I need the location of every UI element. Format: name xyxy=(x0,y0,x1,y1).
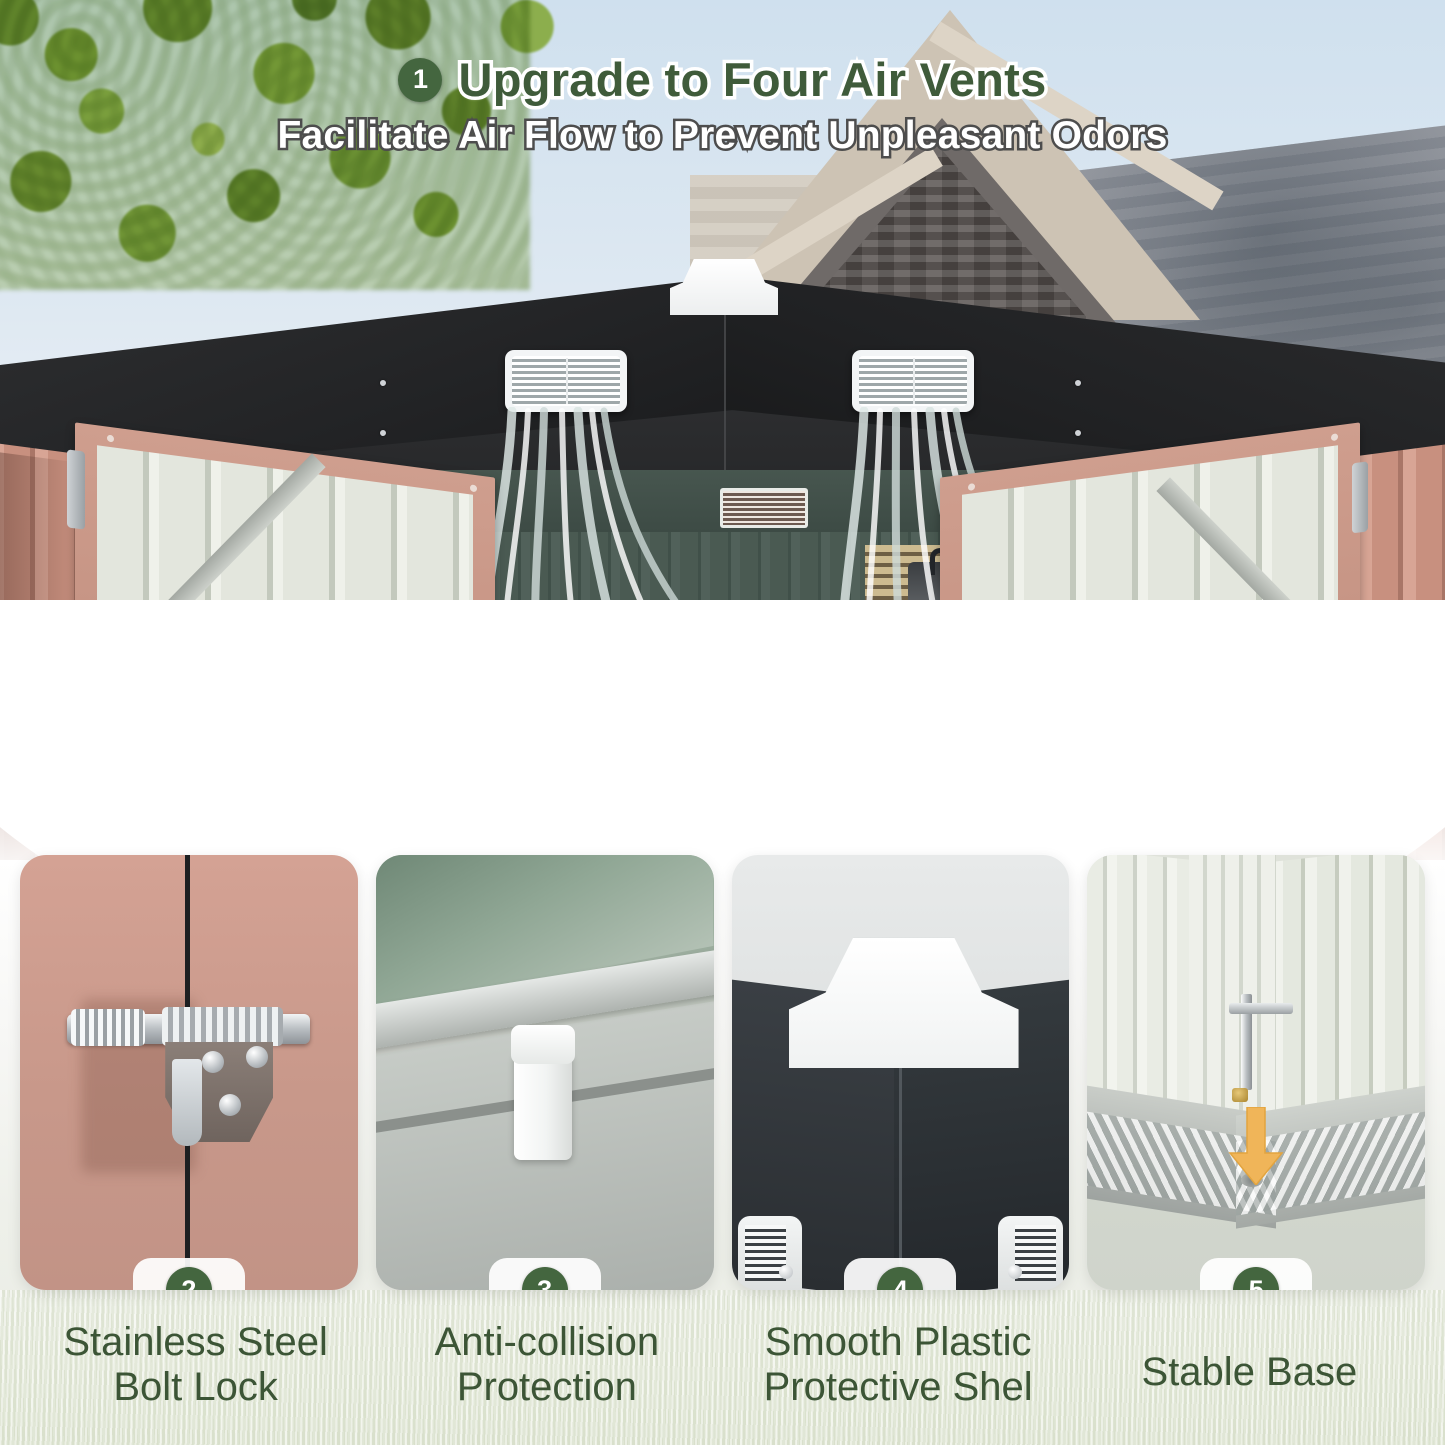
roof-vent-left-icon xyxy=(505,350,627,412)
roof-screw-icon xyxy=(1075,430,1081,436)
shed-wall-panel-center xyxy=(1189,855,1277,1125)
caption-line: Smooth Plastic xyxy=(729,1320,1068,1365)
feature-panel-stable-base[interactable]: 5 xyxy=(1087,855,1425,1290)
feature-panel-row: 2 3 4 xyxy=(0,855,1445,1295)
caption-line: Protection xyxy=(377,1365,716,1410)
roof-screw-icon xyxy=(1075,380,1081,386)
page-subtitle: Facilitate Air Flow to Prevent Unpleasan… xyxy=(0,114,1445,158)
roof-center-seam xyxy=(899,1051,902,1290)
bolt-knurled-grip xyxy=(71,1009,145,1046)
caption-anti-collision: Anti-collision Protection xyxy=(371,1320,722,1445)
caption-line: Stainless Steel xyxy=(26,1320,365,1365)
anti-collision-bumper xyxy=(514,1051,571,1160)
caption-stable-base: Stable Base xyxy=(1074,1320,1425,1445)
roof-screw-icon xyxy=(380,430,386,436)
headline-badge: 1 xyxy=(398,58,442,102)
headline-block: 1 Upgrade to Four Air Vents Facilitate A… xyxy=(0,52,1445,158)
down-arrow-icon xyxy=(1226,1107,1286,1185)
caption-line: Bolt Lock xyxy=(26,1365,365,1410)
roof-vent-right-icon xyxy=(852,350,974,412)
caption-line: Anti-collision xyxy=(377,1320,716,1365)
caption-line: Stable Base xyxy=(1080,1350,1419,1395)
plastic-protective-shell xyxy=(789,938,1019,1069)
caption-bolt-lock: Stainless Steel Bolt Lock xyxy=(20,1320,371,1445)
lock-screw-icon xyxy=(202,1051,224,1073)
feature-panel-bolt-lock[interactable]: 2 xyxy=(20,855,358,1290)
interior-vent-left-icon xyxy=(720,488,808,528)
door-screw-icon xyxy=(107,435,114,443)
shell-bolt-icon xyxy=(1008,1265,1022,1279)
caption-plastic-shell: Smooth Plastic Protective Shel xyxy=(723,1320,1074,1445)
shed-ridge-seam xyxy=(724,315,726,495)
padlock-hasp-icon xyxy=(172,1059,202,1146)
roof-screw-icon xyxy=(380,380,386,386)
door-latch-icon[interactable] xyxy=(67,449,85,529)
anchor-washer xyxy=(1229,1003,1293,1014)
caption-row: Stainless Steel Bolt Lock Anti-collision… xyxy=(0,1320,1445,1445)
shell-bolt-icon xyxy=(779,1265,793,1279)
door-latch-icon[interactable] xyxy=(1352,461,1368,533)
page-title: Upgrade to Four Air Vents xyxy=(458,52,1046,107)
feature-panel-plastic-shell[interactable]: 4 xyxy=(732,855,1070,1290)
feature-panel-anti-collision[interactable]: 3 xyxy=(376,855,714,1290)
caption-line: Protective Shel xyxy=(729,1365,1068,1410)
bolt-housing xyxy=(162,1007,284,1046)
infographic-stage: 1 Upgrade to Four Air Vents Facilitate A… xyxy=(0,0,1445,1445)
door-screw-icon xyxy=(470,484,477,492)
roof-ridge-cap-icon xyxy=(670,259,778,315)
bumper-cap xyxy=(511,1025,575,1064)
anchor-nut xyxy=(1232,1088,1248,1102)
